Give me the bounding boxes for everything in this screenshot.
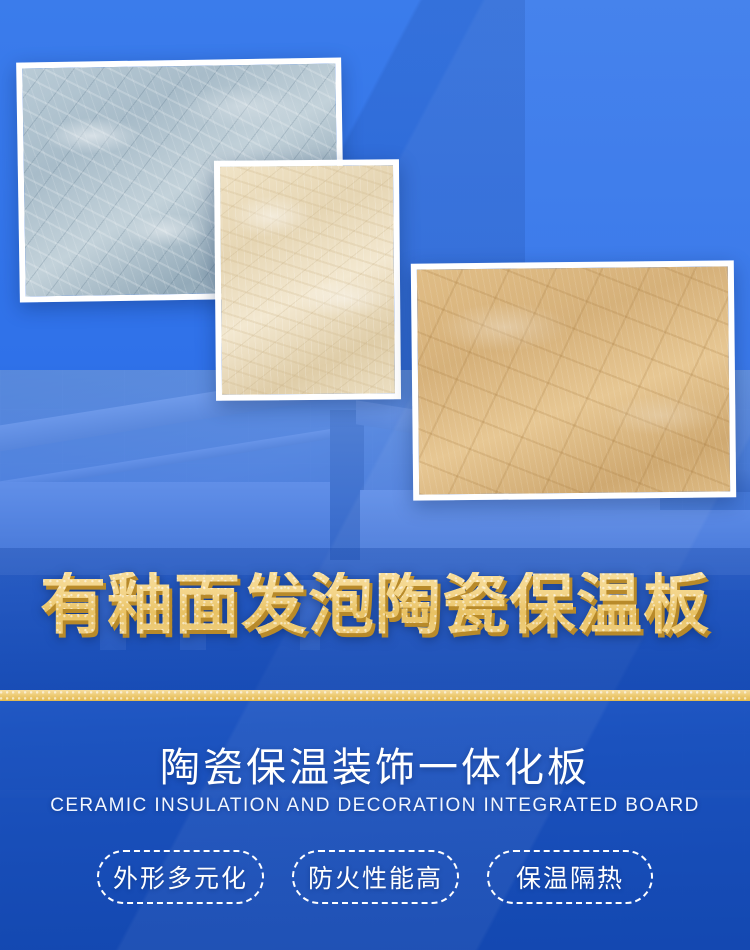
sample-tile-cream-travertine (214, 159, 401, 401)
gold-divider-rule (0, 690, 750, 701)
main-title: 有釉面发泡陶瓷保温板 (0, 572, 750, 638)
feature-badge-thermal-insulation[interactable]: 保温隔热 (487, 850, 653, 904)
tile-texture (417, 266, 730, 494)
product-banner-poster: 有釉面发泡陶瓷保温板 陶瓷保温装饰一体化板 CERAMIC INSULATION… (0, 0, 750, 950)
tile-texture (220, 165, 395, 395)
subtitle-english: CERAMIC INSULATION AND DECORATION INTEGR… (0, 795, 750, 817)
subtitle-chinese: 陶瓷保温装饰一体化板 (0, 735, 750, 793)
feature-badge-fire-resistance[interactable]: 防火性能高 (292, 850, 459, 904)
sample-tile-tan-marble (411, 260, 736, 500)
feature-badge-shape-diversity[interactable]: 外形多元化 (97, 850, 264, 904)
feature-badge-list: 外形多元化 防火性能高 保温隔热 (0, 850, 750, 904)
